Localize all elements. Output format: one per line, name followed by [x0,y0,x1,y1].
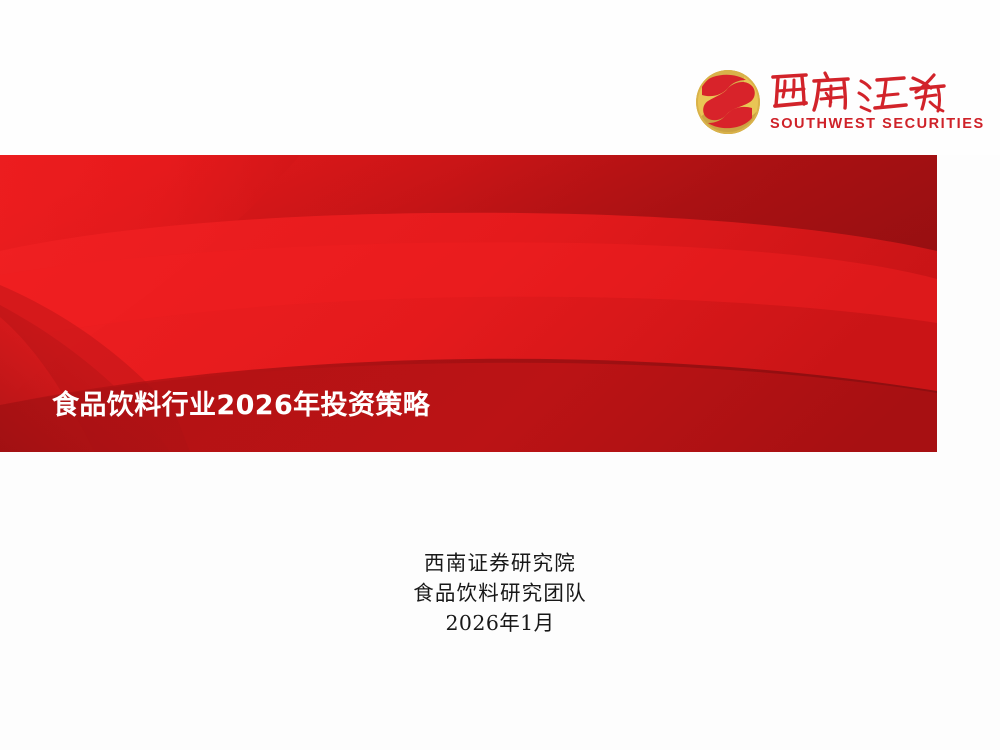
company-wordmark-english: SOUTHWEST SECURITIES [770,116,950,133]
swirl-sphere-logo-icon [694,68,762,136]
company-wordmark-chinese-icon [768,66,950,114]
footer-team-name: 食品饮料研究团队 [0,578,1000,608]
banner-text-layer: 食品饮料行业2026年投资策略 白酒有望调整结束，大众品优选个股 [0,155,937,452]
slide-footer: 西南证券研究院 食品饮料研究团队 2026年1月 [0,548,1000,638]
footer-institute-name: 西南证券研究院 [0,548,1000,578]
footer-date: 2026年1月 [0,608,1000,638]
company-logo: SOUTHWEST SECURITIES [694,66,950,140]
slide-header: SOUTHWEST SECURITIES [0,0,1000,155]
title-banner: 食品饮料行业2026年投资策略 白酒有望调整结束，大众品优选个股 [0,155,937,452]
slide-kicker-subtitle: 食品饮料行业2026年投资策略 [52,383,430,422]
presentation-cover-slide: SOUTHWEST SECURITIES [0,0,1000,750]
